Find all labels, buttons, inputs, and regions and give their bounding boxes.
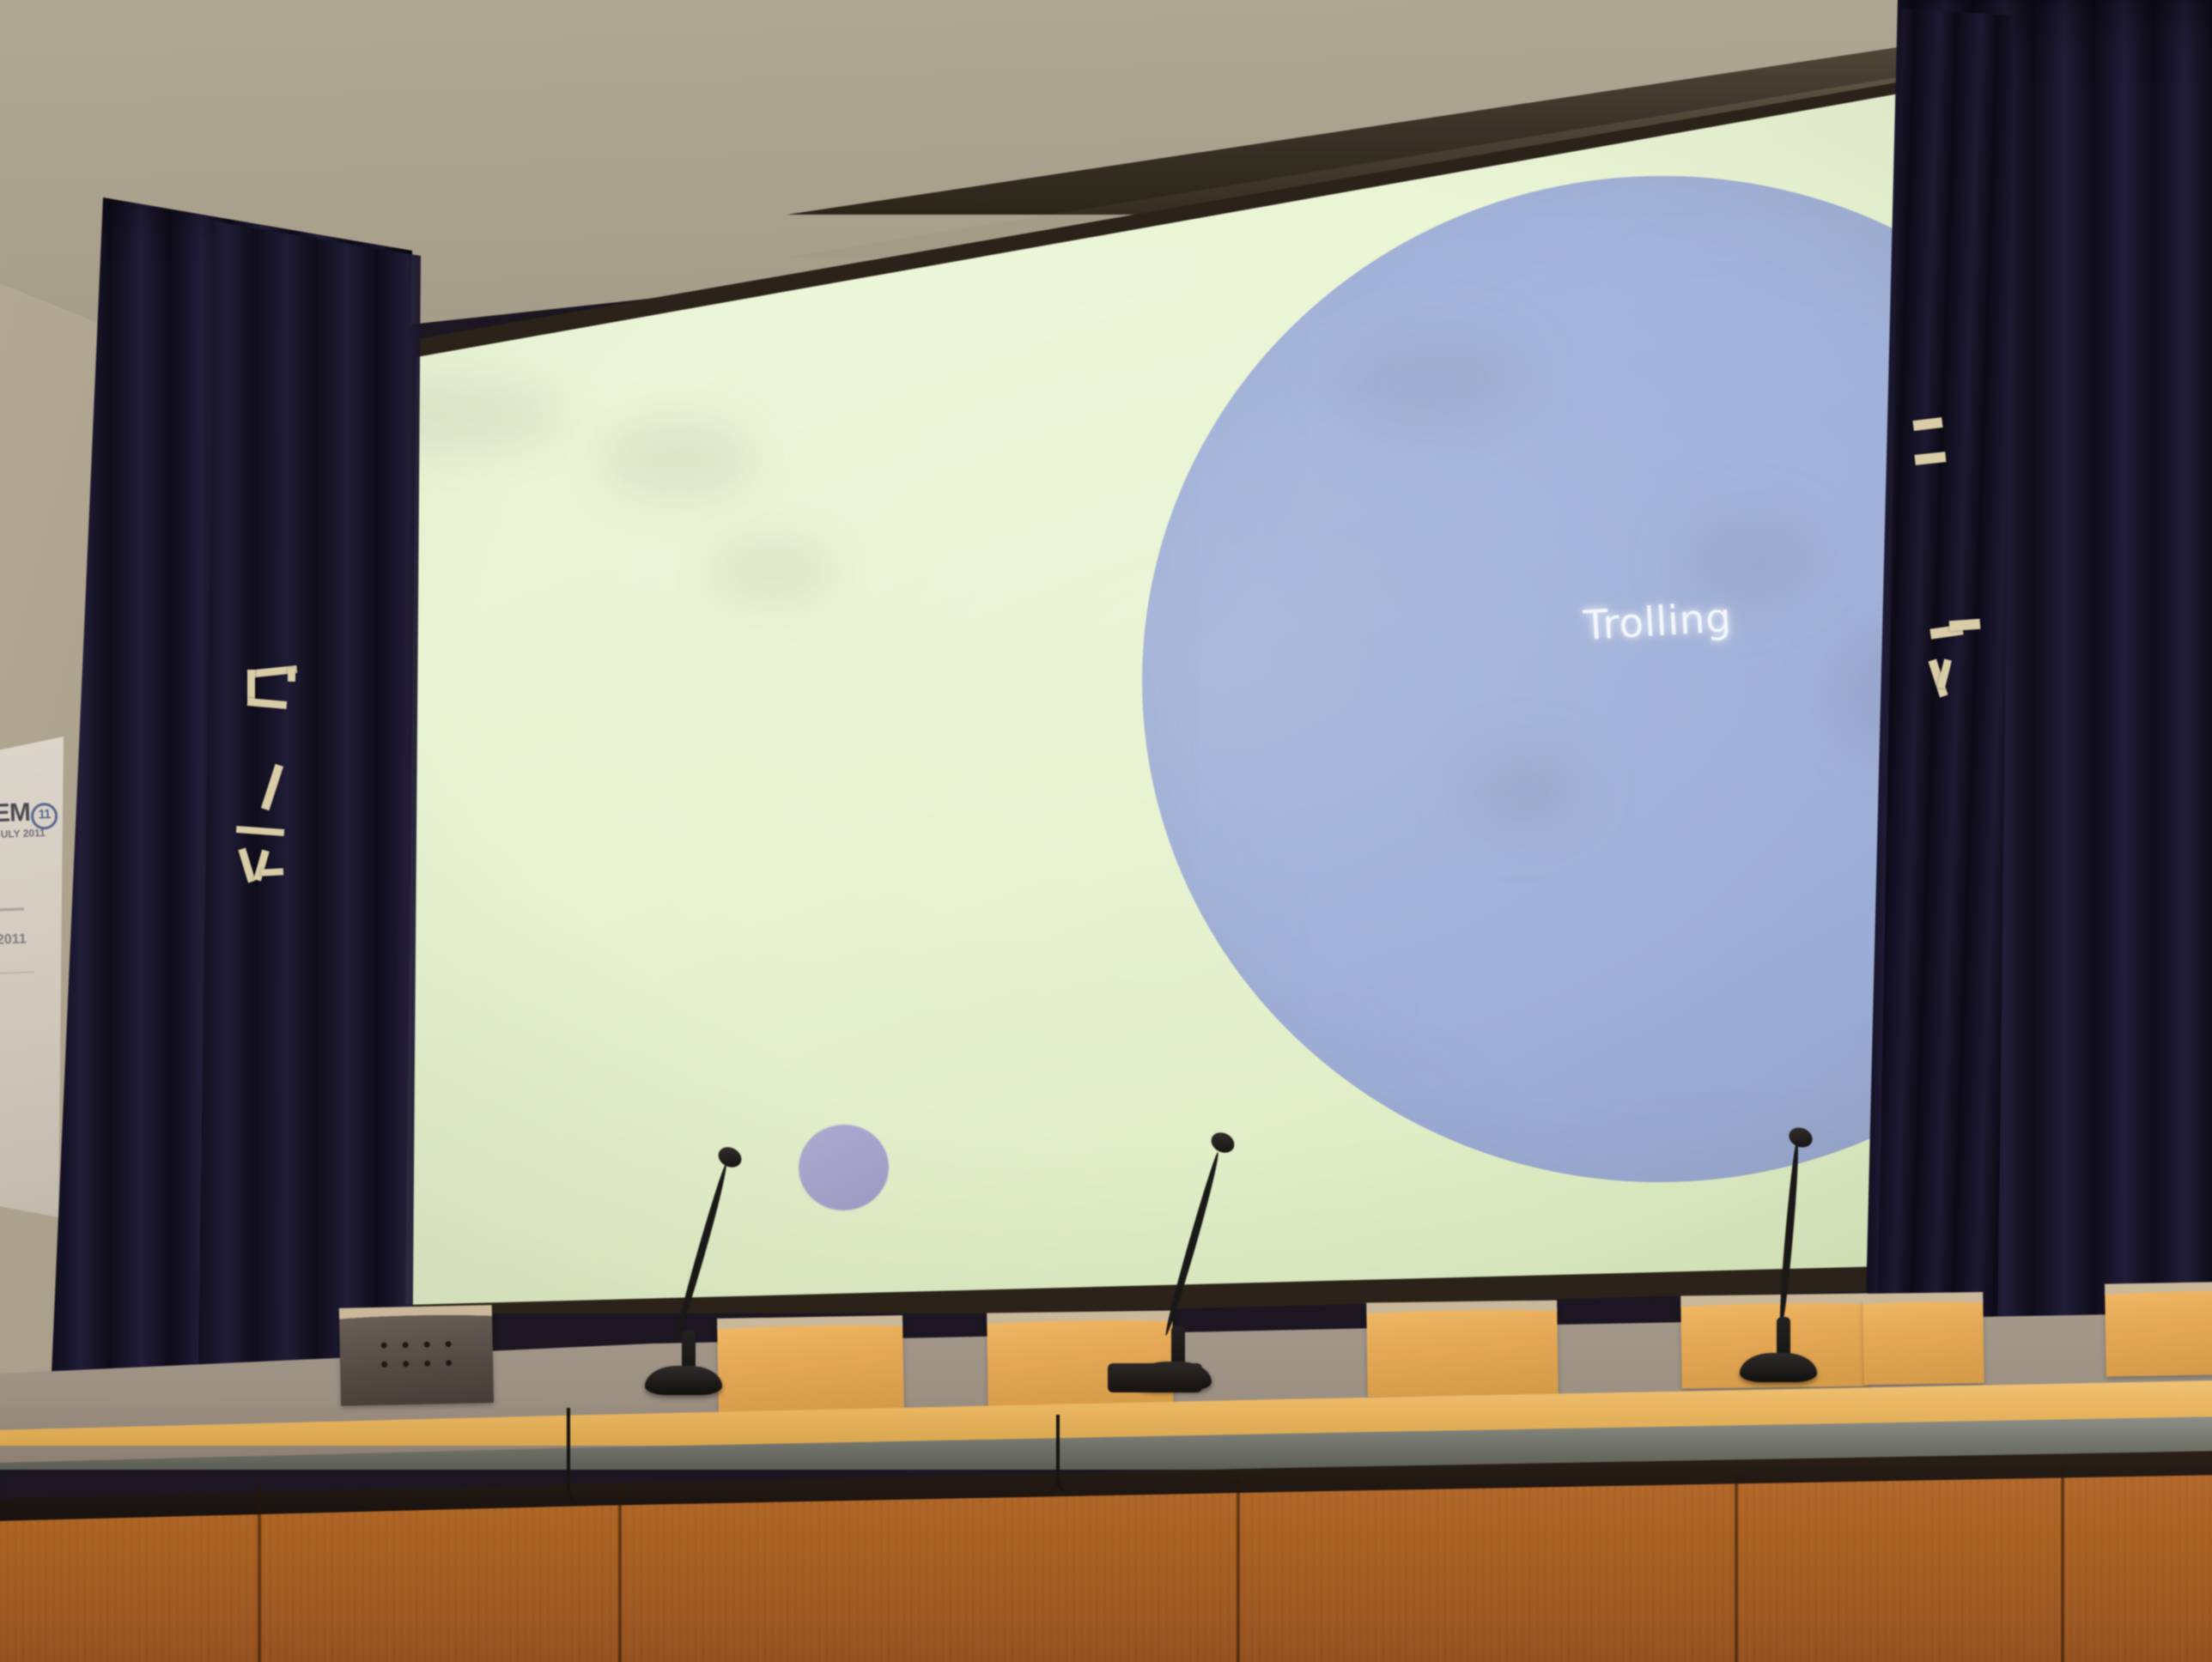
panel-seam [258,1485,261,1662]
microphone-center[interactable] [1142,1142,1245,1391]
microphone-neck [1777,1140,1801,1331]
microphone-neck [1163,1151,1223,1337]
chair-dark-1[interactable] [339,1310,494,1406]
microphone-cable [1056,1415,1094,1492]
microphone-base [1740,1353,1817,1382]
curtain-left-inner [197,221,438,1441]
microphone-left[interactable] [653,1155,756,1395]
tape-mark-4 [1949,619,1981,631]
microphone-cable [567,1408,647,1502]
chair-perforations [374,1335,460,1374]
panel-seam [618,1485,622,1662]
chair-wood-6[interactable] [1863,1297,1984,1385]
panel-seam [2061,1468,2064,1662]
poster-subtitle: JULY 2011 [0,827,46,840]
desk-device [1108,1363,1202,1392]
tape-mark-bracket [288,668,295,682]
conference-hall-photo: Trolling EM11 JULY 2011 2011 [0,0,2212,1662]
poster-logo: EM11 [0,798,58,832]
microphone-right[interactable] [1747,1133,1850,1382]
chair-wood-4[interactable] [1366,1305,1558,1397]
poster-logo-text: EM [0,798,31,828]
poster-date: 2011 [0,931,27,948]
microphone-base [645,1366,722,1395]
poster-logo-badge: 11 [31,803,58,830]
chair-wood-7[interactable] [2105,1286,2212,1376]
microphone-neck [672,1163,731,1343]
panel-seam [1735,1473,1738,1662]
tape-mark-v [261,868,283,876]
panel-seam [1237,1478,1240,1662]
